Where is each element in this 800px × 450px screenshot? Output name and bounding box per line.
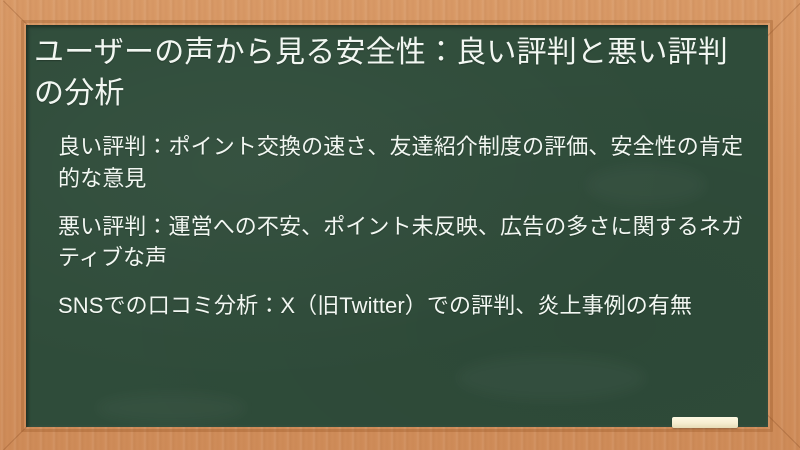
slide-content: ユーザーの声から見る安全性：良い評判と悪い評判の分析 良い評判：ポイント交換の速…	[26, 25, 768, 427]
chalk-stick-icon	[672, 417, 738, 428]
slide-bullet-item: 悪い評判：運営への不安、ポイント未反映、広告の多さに関するネガティブな声	[58, 211, 750, 275]
slide-bullet-item: SNSでの口コミ分析：X（旧Twitter）での評判、炎上事例の有無	[58, 290, 750, 322]
chalkboard-surface: ユーザーの声から見る安全性：良い評判と悪い評判の分析 良い評判：ポイント交換の速…	[26, 25, 768, 427]
chalkboard-slide: ユーザーの声から見る安全性：良い評判と悪い評判の分析 良い評判：ポイント交換の速…	[0, 0, 800, 450]
slide-bullet-list: 良い評判：ポイント交換の速さ、友達紹介制度の評価、安全性の肯定的な意見 悪い評判…	[34, 131, 750, 322]
slide-bullet-item: 良い評判：ポイント交換の速さ、友達紹介制度の評価、安全性の肯定的な意見	[58, 131, 750, 195]
slide-title: ユーザーの声から見る安全性：良い評判と悪い評判の分析	[34, 32, 750, 115]
